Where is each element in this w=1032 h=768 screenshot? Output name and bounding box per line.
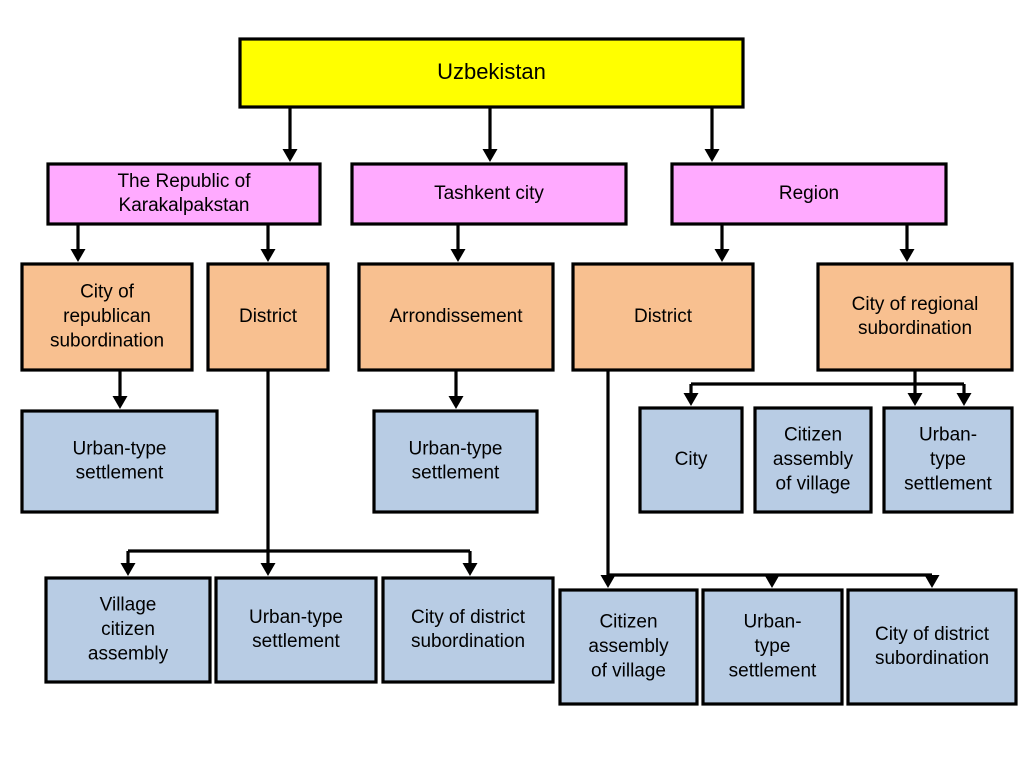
node-label-line: assembly — [773, 449, 854, 470]
arrow-head-icon — [463, 563, 478, 576]
arrow-head-icon — [908, 393, 923, 406]
arrow-head-icon — [601, 575, 616, 588]
node-city-district-subordination-region[interactable]: City of districtsubordination — [848, 590, 1016, 704]
arrow-head-icon — [261, 249, 276, 262]
node-label-line: Arrondissement — [389, 306, 523, 327]
arrow-head-icon — [684, 393, 699, 406]
node-karakalpakstan[interactable]: The Republic ofKarakalpakstan — [48, 164, 320, 224]
arrow-head-icon — [283, 149, 298, 162]
node-label-line: settlement — [729, 660, 817, 681]
node-label-line: City — [675, 449, 708, 470]
node-label-line: Region — [779, 183, 839, 204]
node-label-district-region: District — [634, 306, 693, 327]
node-city-regional-subordination[interactable]: City of regionalsubordination — [818, 264, 1012, 370]
node-label-line: The Republic of — [117, 171, 251, 192]
nodes-layer: UzbekistanThe Republic ofKarakalpakstanT… — [22, 39, 1016, 704]
arrow-head-icon — [957, 393, 972, 406]
node-label-line: type — [930, 449, 966, 470]
node-label-line: Uzbekistan — [437, 59, 546, 84]
node-label-line: Citizen — [784, 425, 842, 446]
node-uts-district-region[interactable]: Urban-typesettlement — [703, 590, 842, 704]
node-uts-regional[interactable]: Urban-typesettlement — [884, 408, 1012, 512]
node-uts-arrondissement[interactable]: Urban-typesettlement — [374, 411, 537, 512]
node-label-line: settlement — [904, 473, 992, 494]
node-label-line: of village — [776, 473, 851, 494]
node-label-line: of village — [591, 660, 666, 681]
arrow-head-icon — [705, 149, 720, 162]
node-label-line: Urban-type — [409, 438, 503, 459]
arrow-head-icon — [900, 249, 915, 262]
node-arrondissement[interactable]: Arrondissement — [359, 264, 553, 370]
node-label-line: republican — [63, 306, 151, 327]
node-label-line: assembly — [88, 643, 169, 664]
node-label-line: Tashkent city — [434, 183, 544, 204]
node-citizen-assembly-village-regional[interactable]: Citizenassemblyof village — [755, 408, 871, 512]
arrow-head-icon — [451, 249, 466, 262]
arrow-head-icon — [765, 575, 780, 588]
node-label-line: settlement — [76, 463, 164, 484]
node-label-line: settlement — [412, 463, 500, 484]
node-label-line: City of district — [411, 607, 526, 628]
node-label-region: Region — [779, 183, 839, 204]
node-label-line: citizen — [101, 619, 155, 640]
node-label-citizen-assembly-village-regional: Citizenassemblyof village — [773, 425, 854, 495]
node-box-uts-district-karakalpakstan[interactable] — [216, 578, 376, 682]
node-label-line: assembly — [588, 636, 669, 657]
node-label-line: City of — [80, 282, 135, 303]
node-label-line: District — [634, 306, 693, 327]
node-label-arrondissement: Arrondissement — [389, 306, 523, 327]
node-label-line: District — [239, 306, 298, 327]
node-city-republican-subordination[interactable]: City ofrepublicansubordination — [22, 264, 192, 370]
node-tashkent-city[interactable]: Tashkent city — [352, 164, 626, 224]
diagram-canvas: UzbekistanThe Republic ofKarakalpakstanT… — [0, 0, 1032, 768]
node-label-line: City of regional — [852, 294, 979, 315]
node-label-line: type — [755, 636, 791, 657]
node-label-line: Citizen — [599, 612, 657, 633]
arrow-head-icon — [449, 396, 464, 409]
node-region[interactable]: Region — [672, 164, 946, 224]
node-label-line: settlement — [252, 631, 340, 652]
node-box-uts-arrondissement[interactable] — [374, 411, 537, 512]
node-label-line: subordination — [858, 318, 972, 339]
node-box-uts-karakalpakstan-city[interactable] — [22, 411, 217, 512]
node-uzbekistan[interactable]: Uzbekistan — [240, 39, 743, 107]
node-box-city-district-subordination-karakalpakstan[interactable] — [383, 578, 553, 682]
node-label-line: City of district — [875, 624, 990, 645]
arrow-head-icon — [113, 396, 128, 409]
node-label-line: Urban- — [743, 612, 801, 633]
node-label-line: Urban- — [919, 425, 977, 446]
node-label-citizen-assembly-village-district: Citizenassemblyof village — [588, 612, 669, 682]
connector-line — [691, 370, 964, 401]
node-city-regional[interactable]: City — [640, 408, 742, 512]
node-district-region[interactable]: District — [573, 264, 753, 370]
node-label-line: Urban-type — [73, 438, 167, 459]
node-label-line: subordination — [50, 330, 164, 351]
arrow-head-icon — [71, 249, 86, 262]
arrow-head-icon — [121, 563, 136, 576]
node-uts-district-karakalpakstan[interactable]: Urban-typesettlement — [216, 578, 376, 682]
arrow-head-icon — [483, 149, 498, 162]
node-label-uzbekistan: Uzbekistan — [437, 59, 546, 84]
node-village-citizen-assembly[interactable]: Villagecitizenassembly — [46, 578, 210, 682]
node-city-district-subordination-karakalpakstan[interactable]: City of districtsubordination — [383, 578, 553, 682]
node-label-line: Urban-type — [249, 607, 343, 628]
node-label-line: subordination — [875, 648, 989, 669]
node-label-line: Karakalpakstan — [119, 195, 250, 216]
node-label-line: subordination — [411, 631, 525, 652]
node-label-tashkent-city: Tashkent city — [434, 183, 544, 204]
node-box-city-regional-subordination[interactable] — [818, 264, 1012, 370]
node-label-district-karakalpakstan: District — [239, 306, 298, 327]
arrow-head-icon — [715, 249, 730, 262]
arrow-head-icon — [261, 563, 276, 576]
hierarchy-diagram: UzbekistanThe Republic ofKarakalpakstanT… — [0, 0, 1032, 768]
node-uts-karakalpakstan-city[interactable]: Urban-typesettlement — [22, 411, 217, 512]
node-label-city-regional: City — [675, 449, 708, 470]
node-citizen-assembly-village-district[interactable]: Citizenassemblyof village — [560, 590, 697, 704]
node-box-city-district-subordination-region[interactable] — [848, 590, 1016, 704]
node-district-karakalpakstan[interactable]: District — [208, 264, 328, 370]
arrow-head-icon — [925, 575, 940, 588]
node-label-line: Village — [100, 595, 157, 616]
